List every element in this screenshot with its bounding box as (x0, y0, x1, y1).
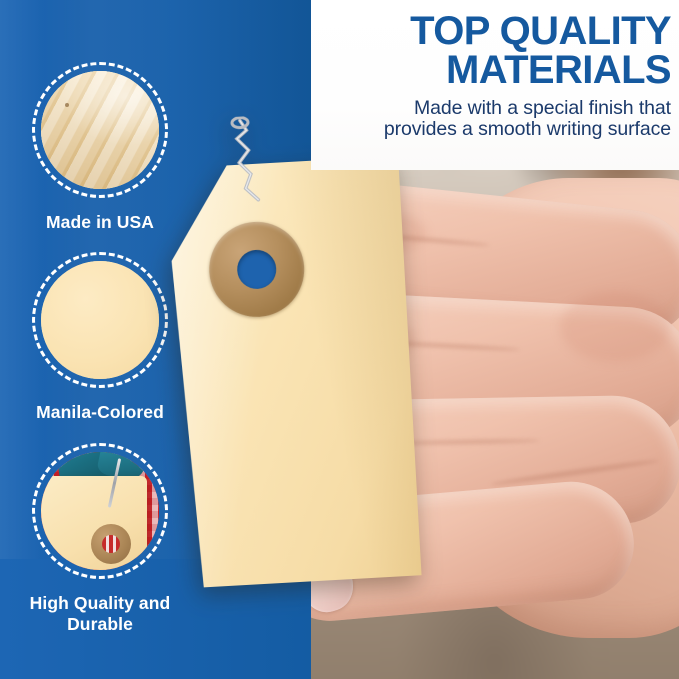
dashed-ring-icon (32, 62, 168, 198)
feature-label: Manila-Colored (0, 402, 200, 423)
feature-circle (32, 443, 168, 579)
page-subtitle: Made with a special finish that provides… (313, 98, 671, 142)
tag-shading (166, 156, 421, 588)
page-title: TOP QUALITY MATERIALS (313, 12, 671, 90)
dashed-ring-icon (32, 252, 168, 388)
feature-label: High Quality and Durable (0, 593, 200, 634)
product-infographic: Made in USA Manila-Colored (0, 0, 679, 679)
manila-shipping-tag (166, 156, 421, 588)
eyelet-hole (236, 249, 277, 290)
feature-high-quality-durable: High Quality and Durable (0, 443, 200, 634)
feature-circle (32, 252, 168, 388)
twisted-steel-wire-hook (220, 115, 275, 237)
dashed-ring-icon (32, 443, 168, 579)
feature-manila-colored: Manila-Colored (0, 252, 200, 423)
knuckle-crease (560, 292, 670, 362)
feature-circle (32, 62, 168, 198)
header: TOP QUALITY MATERIALS Made with a specia… (311, 0, 679, 141)
